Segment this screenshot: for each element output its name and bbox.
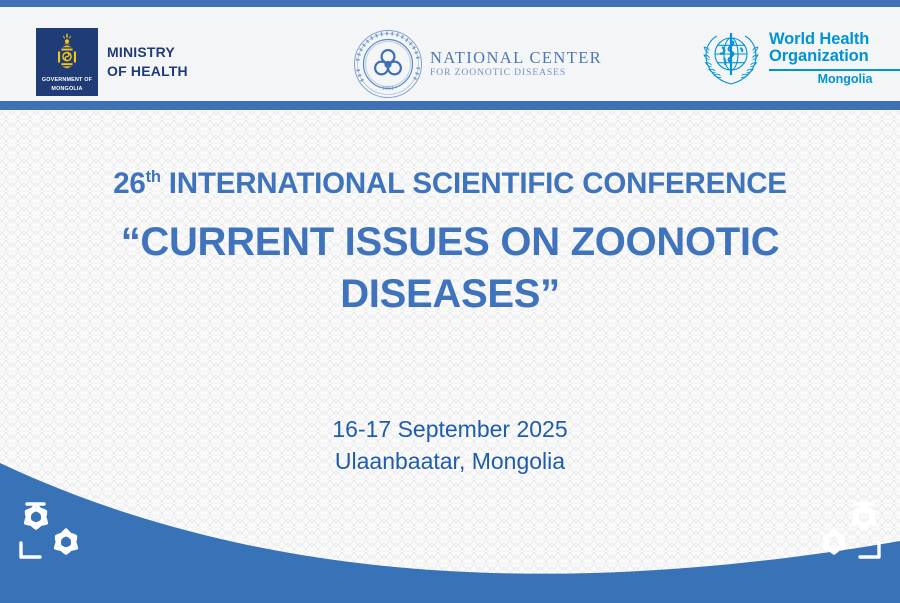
conference-number: 26 [113,167,145,200]
government-of-mongolia-emblem: GOVERNMENT OF MONGOLIA [36,28,98,96]
soyombo-icon [50,32,84,72]
ministry-of-health-label: MINISTRY OF HEALTH [107,43,188,81]
biohazard-seal-icon: 1951 [352,28,424,100]
wave-blue-band [0,463,900,603]
event-date: 16-17 September 2025 [0,414,900,446]
who-emblem-icon [700,27,762,89]
conference-heading-text: INTERNATIONAL SCIENTIFIC CONFERENCE [161,167,787,200]
top-accent-bar [0,0,900,7]
page-title: “CURRENT ISSUES ON ZOONOTIC DISEASES” [0,217,900,319]
who-label: World Health Organization Mongolia [769,31,900,85]
mongolian-knot-ornament-left [14,495,100,565]
national-center-label-line2: FOR ZOONOTIC DISEASES [430,68,602,78]
national-center-logo: 1951 NATIONAL CENTER FOR ZOONOTIC DISEAS… [352,28,602,100]
ministry-label-line1: MINISTRY [107,43,188,62]
page-title-line1: “CURRENT ISSUES ON ZOONOTIC [0,217,900,268]
conference-title-slide: GOVERNMENT OF MONGOLIA MINISTRY OF HEALT… [0,0,900,603]
who-label-line1: World Health [769,31,900,48]
who-logo: World Health Organization Mongolia [700,27,900,89]
who-country-label: Mongolia [769,73,900,86]
emblem-government-label: GOVERNMENT OF [36,78,98,84]
who-divider [769,69,900,71]
page-title-line2: DISEASES” [0,269,900,320]
emblem-mongolia-label: MONGOLIA [36,86,98,92]
national-center-label-line1: NATIONAL CENTER [430,50,602,67]
who-label-line2: Organization [769,48,900,65]
bottom-wave-decoration [0,453,900,603]
logo-header-band: GOVERNMENT OF MONGOLIA MINISTRY OF HEALT… [0,7,900,101]
national-center-label: NATIONAL CENTER FOR ZOONOTIC DISEASES [430,50,602,77]
mongolian-knot-ornament-right [800,495,886,565]
header-separator-bar [0,101,900,110]
ministry-of-health-logo: GOVERNMENT OF MONGOLIA MINISTRY OF HEALT… [36,28,188,96]
ministry-label-line2: OF HEALTH [107,62,188,81]
seal-year: 1951 [382,86,394,92]
title-block: 26th INTERNATIONAL SCIENTIFIC CONFERENCE… [0,168,900,320]
conference-ordinal: th [146,167,161,186]
conference-heading: 26th INTERNATIONAL SCIENTIFIC CONFERENCE [0,168,900,200]
